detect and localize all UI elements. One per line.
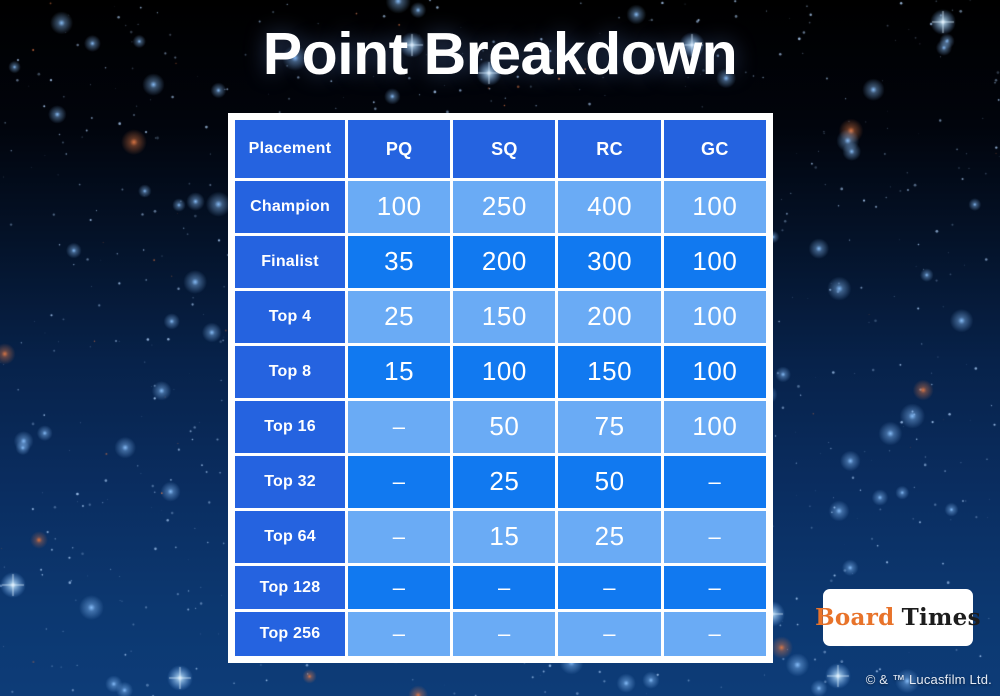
row-label-top-256: Top 256 [235,612,345,656]
row-label-top-4: Top 4 [235,291,345,343]
table-row: Top 32–2550– [235,456,766,508]
cell-top-64-sq: 15 [453,511,555,563]
row-label-top-32: Top 32 [235,456,345,508]
table-row: Champion100250400100 [235,181,766,233]
cell-top-4-pq: 25 [348,291,450,343]
row-label-top-16: Top 16 [235,401,345,453]
row-label-finalist: Finalist [235,236,345,288]
poster-stage: Point Breakdown Placement PQ SQ RC GC Ch… [0,0,1000,696]
cell-top-8-sq: 100 [453,346,555,398]
cell-top-8-rc: 150 [558,346,660,398]
table-row: Finalist35200300100 [235,236,766,288]
row-label-top-128: Top 128 [235,566,345,610]
cell-top-128-rc: – [558,566,660,610]
copyright-notice: © & ™ Lucasfilm Ltd. [866,672,992,687]
table-row: Top 128–––– [235,566,766,610]
column-header-sq: SQ [453,120,555,178]
cell-top-256-rc: – [558,612,660,656]
page-title: Point Breakdown [0,24,1000,86]
cell-top-32-sq: 25 [453,456,555,508]
cell-top-128-gc: – [664,566,766,610]
cell-top-16-rc: 75 [558,401,660,453]
cell-top-64-pq: – [348,511,450,563]
cell-finalist-sq: 200 [453,236,555,288]
cell-top-4-rc: 200 [558,291,660,343]
cell-top-16-gc: 100 [664,401,766,453]
cell-top-256-pq: – [348,612,450,656]
cell-finalist-gc: 100 [664,236,766,288]
column-header-placement: Placement [235,120,345,178]
column-header-pq: PQ [348,120,450,178]
board-times-logo: BoardTimes [823,589,973,646]
table-header-row: Placement PQ SQ RC GC [235,120,766,178]
column-header-gc: GC [664,120,766,178]
cell-top-128-pq: – [348,566,450,610]
cell-champion-pq: 100 [348,181,450,233]
cell-champion-sq: 250 [453,181,555,233]
cell-top-256-sq: – [453,612,555,656]
cell-top-256-gc: – [664,612,766,656]
cell-top-64-gc: – [664,511,766,563]
row-label-top-64: Top 64 [235,511,345,563]
table-row: Top 425150200100 [235,291,766,343]
cell-finalist-pq: 35 [348,236,450,288]
logo-word-times: Times [902,604,981,631]
cell-top-64-rc: 25 [558,511,660,563]
table-row: Top 16–5075100 [235,401,766,453]
table-row: Top 64–1525– [235,511,766,563]
table-row: Top 815100150100 [235,346,766,398]
row-label-top-8: Top 8 [235,346,345,398]
cell-top-16-pq: – [348,401,450,453]
cell-finalist-rc: 300 [558,236,660,288]
column-header-rc: RC [558,120,660,178]
cell-top-16-sq: 50 [453,401,555,453]
cell-top-32-pq: – [348,456,450,508]
logo-word-board: Board [815,604,894,631]
point-breakdown-table: Placement PQ SQ RC GC Champion1002504001… [228,113,773,663]
cell-top-8-pq: 15 [348,346,450,398]
cell-champion-rc: 400 [558,181,660,233]
table-body: Champion100250400100Finalist35200300100T… [235,181,766,656]
cell-top-8-gc: 100 [664,346,766,398]
cell-champion-gc: 100 [664,181,766,233]
cell-top-4-gc: 100 [664,291,766,343]
cell-top-32-gc: – [664,456,766,508]
cell-top-4-sq: 150 [453,291,555,343]
table-row: Top 256–––– [235,612,766,656]
cell-top-32-rc: 50 [558,456,660,508]
row-label-champion: Champion [235,181,345,233]
cell-top-128-sq: – [453,566,555,610]
